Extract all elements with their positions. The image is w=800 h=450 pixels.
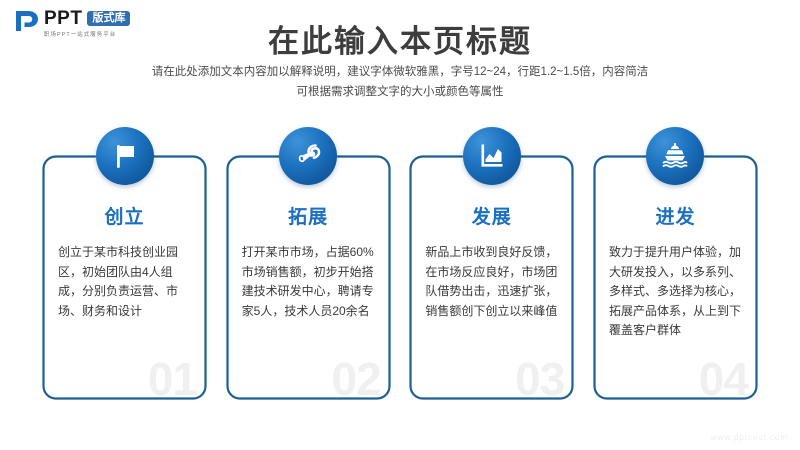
ship-icon — [646, 127, 704, 185]
card-item[interactable]: 01 创立 创立于某市科技创业园区，初始团队由4人组成，分别负责运营、市场、财务… — [42, 155, 207, 400]
card-body: 新品上市收到良好反馈，在市场反应良好，市场团队借势出击，迅速扩张，销售额创下创立… — [425, 243, 559, 321]
footer-url: www.pptcool.com — [711, 433, 788, 442]
page-subtitle: 请在此处添加文本内容加以解释说明，建议字体微软雅黑，字号12~24，行距1.2~… — [0, 62, 800, 102]
card-body: 打开某市市场，占据60%市场销售额，初步开始搭建技术研发中心，聘请专家5人，技术… — [242, 243, 376, 321]
card-heading: 创立 — [42, 202, 207, 229]
card-item[interactable]: 02 拓展 打开某市市场，占据60%市场销售额，初步开始搭建技术研发中心，聘请专… — [226, 155, 391, 400]
card-heading: 进发 — [593, 202, 758, 229]
card-body: 致力于提升用户体验，加大研发投入，以多系列、多样式、多选择为核心，拓展产品体系，… — [609, 243, 743, 341]
card-body: 创立于某市科技创业园区，初始团队由4人组成，分别负责运营、市场、财务和设计 — [58, 243, 192, 321]
card-heading: 发展 — [409, 202, 574, 229]
card-number: 02 — [331, 356, 380, 402]
flag-icon — [96, 127, 154, 185]
card-number: 03 — [515, 356, 564, 402]
subtitle-line-2: 可根据需求调整文字的大小或颜色等属性 — [0, 82, 800, 102]
growth-chart-icon — [463, 127, 521, 185]
megaphone-icon — [279, 127, 337, 185]
card-number: 04 — [699, 356, 748, 402]
page-title: 在此输入本页标题 — [0, 16, 800, 61]
card-number: 01 — [148, 356, 197, 402]
card-item[interactable]: 03 发展 新品上市收到良好反馈，在市场反应良好，市场团队借势出击，迅速扩张，销… — [409, 155, 574, 400]
card-list: 01 创立 创立于某市科技创业园区，初始团队由4人组成，分别负责运营、市场、财务… — [42, 155, 758, 400]
subtitle-line-1: 请在此处添加文本内容加以解释说明，建议字体微软雅黑，字号12~24，行距1.2~… — [0, 62, 800, 82]
card-item[interactable]: 04 进发 致力于提升用户体验，加大研发投入，以多系列、多样式、多选择为核心，拓… — [593, 155, 758, 400]
card-heading: 拓展 — [226, 202, 391, 229]
